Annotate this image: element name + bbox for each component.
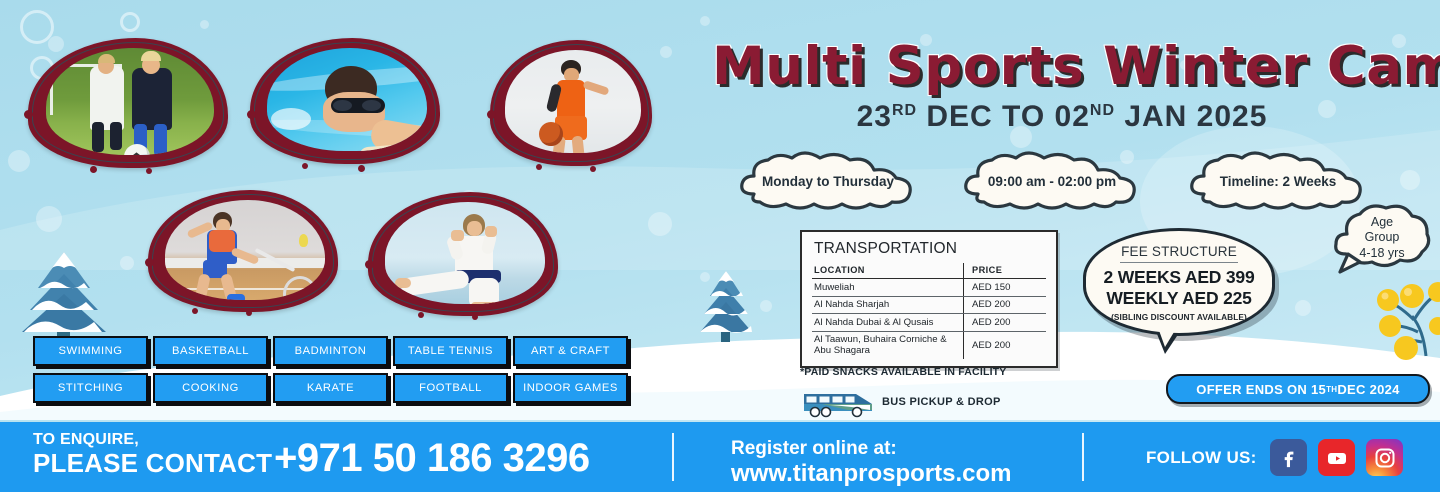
- enquire-line-2: PLEASE CONTACT: [33, 450, 272, 476]
- social-links: [1270, 439, 1403, 476]
- photo-accent-dot: [246, 310, 252, 316]
- photo-accent-dot: [90, 166, 97, 173]
- activity-button-karate[interactable]: KARATE: [273, 373, 388, 403]
- register-block: Register online at: www.titanprosports.c…: [731, 438, 1011, 488]
- activity-button-cooking[interactable]: COOKING: [153, 373, 268, 403]
- activity-button-football[interactable]: FOOTBALL: [393, 373, 508, 403]
- photo-accent-dot: [302, 163, 308, 169]
- cell-location: Muweliah: [812, 279, 964, 297]
- offer-prefix: OFFER ENDS ON 15: [1196, 382, 1326, 397]
- photo-swimming: [250, 38, 440, 164]
- table-row: Al Nahda Dubai & Al Qusais AED 200: [812, 314, 1046, 332]
- date-ordinal-1: RD: [892, 102, 917, 119]
- photo-karate: [368, 192, 558, 316]
- facebook-icon[interactable]: [1270, 439, 1307, 476]
- photo-accent-dot: [365, 260, 374, 269]
- bar-divider-2: [1082, 433, 1084, 481]
- winter-camp-banner: Multi Sports Winter Camp 23RD DEC TO 02N…: [0, 0, 1440, 492]
- activity-button-badminton[interactable]: BADMINTON: [273, 336, 388, 366]
- page-title: Multi Sports Winter Camp: [712, 36, 1412, 97]
- cell-price: AED 150: [964, 279, 1047, 297]
- cell-location: Al Taawun, Buhaira Corniche & Abu Shagar…: [812, 331, 964, 359]
- age-group-text: Age Group 4-18 yrs: [1330, 196, 1434, 280]
- transportation-card: TRANSPORTATION LOCATION PRICE Muweliah A…: [800, 230, 1058, 368]
- cell-price: AED 200: [964, 314, 1047, 332]
- date-middle: DEC TO 02: [917, 100, 1090, 133]
- fee-divider: [1120, 262, 1238, 264]
- age-group-cloud: Age Group 4-18 yrs: [1330, 196, 1434, 280]
- offer-ordinal: TH: [1326, 385, 1337, 394]
- register-label: Register online at:: [731, 438, 1011, 459]
- bus-icon: [800, 388, 878, 418]
- phone-number[interactable]: +971 50 186 3296: [274, 436, 590, 481]
- fee-line-1: 2 WEEKS AED 399: [1104, 267, 1255, 288]
- days-cloud-label: Monday to Thursday: [736, 150, 920, 212]
- berry-branch-icon: [1368, 268, 1440, 360]
- follow-us-label: FOLLOW US:: [1146, 448, 1257, 468]
- enquire-line-1: TO ENQUIRE,: [33, 432, 272, 448]
- age-line-1: Age: [1371, 215, 1393, 230]
- column-price: PRICE: [964, 263, 1047, 279]
- snacks-note: *PAID SNACKS AVAILABLE IN FACILITY: [800, 366, 1007, 378]
- activity-button-swimming[interactable]: SWIMMING: [33, 336, 148, 366]
- offer-suffix: DEC 2024: [1337, 382, 1399, 397]
- fee-heading: FEE STRUCTURE: [1121, 244, 1237, 259]
- activity-button-basketball[interactable]: BASKETBALL: [153, 336, 268, 366]
- transportation-title: TRANSPORTATION: [814, 240, 1046, 258]
- time-cloud-label: 09:00 am - 02:00 pm: [960, 150, 1144, 212]
- photo-accent-dot: [472, 314, 478, 320]
- cell-location: Al Nahda Dubai & Al Qusais: [812, 314, 964, 332]
- camp-dates: 23RD DEC TO 02ND JAN 2025: [712, 100, 1412, 134]
- snow-tree-mid-icon: [696, 268, 756, 344]
- photo-accent-dot: [24, 110, 33, 119]
- fee-line-2: WEEKLY AED 225: [1106, 288, 1251, 309]
- youtube-icon[interactable]: [1318, 439, 1355, 476]
- photo-accent-dot: [418, 312, 424, 318]
- days-cloud: Monday to Thursday: [736, 150, 920, 212]
- photo-accent-dot: [247, 110, 256, 119]
- enquire-block: TO ENQUIRE, PLEASE CONTACT: [33, 432, 272, 476]
- fee-sibling-note: (SIBLING DISCOUNT AVAILABLE): [1111, 312, 1247, 322]
- photo-accent-dot: [358, 165, 365, 172]
- time-cloud: 09:00 am - 02:00 pm: [960, 150, 1144, 212]
- activity-button-table-tennis[interactable]: TABLE TENNIS: [393, 336, 508, 366]
- table-row: Al Nahda Sharjah AED 200: [812, 296, 1046, 314]
- fee-structure-bubble: FEE STRUCTURE 2 WEEKS AED 399 WEEKLY AED…: [1083, 228, 1275, 336]
- activity-button-art-craft[interactable]: ART & CRAFT: [513, 336, 628, 366]
- photo-basketball: [490, 40, 652, 166]
- photo-football: [28, 38, 228, 168]
- photo-accent-dot: [145, 258, 154, 267]
- cell-price: AED 200: [964, 296, 1047, 314]
- transportation-table: LOCATION PRICE Muweliah AED 150 Al Nahda…: [812, 263, 1046, 359]
- table-row: Al Taawun, Buhaira Corniche & Abu Shagar…: [812, 331, 1046, 359]
- website-url[interactable]: www.titanprosports.com: [731, 461, 1011, 488]
- column-location: LOCATION: [812, 263, 964, 279]
- cell-price: AED 200: [964, 331, 1047, 359]
- bar-divider-1: [672, 433, 674, 481]
- photo-badminton: [148, 190, 338, 312]
- activities-grid: SWIMMING BASKETBALL BADMINTON TABLE TENN…: [33, 336, 632, 401]
- photo-accent-dot: [192, 308, 198, 314]
- cell-location: Al Nahda Sharjah: [812, 296, 964, 314]
- photo-accent-dot: [487, 110, 496, 119]
- activity-button-indoor-games[interactable]: INDOOR GAMES: [513, 373, 628, 403]
- offer-badge: OFFER ENDS ON 15TH DEC 2024: [1166, 374, 1430, 404]
- photo-accent-dot: [590, 166, 596, 172]
- age-line-3: 4-18 yrs: [1359, 246, 1404, 261]
- age-line-2: Group: [1365, 230, 1400, 245]
- date-end: JAN 2025: [1115, 100, 1267, 133]
- date-ordinal-2: ND: [1090, 102, 1115, 119]
- instagram-icon[interactable]: [1366, 439, 1403, 476]
- table-row: Muweliah AED 150: [812, 279, 1046, 297]
- snow-tree-left-icon: [14, 248, 114, 344]
- bus-pickup-label: BUS PICKUP & DROP: [882, 396, 1001, 408]
- date-day-1: 23: [857, 100, 892, 133]
- photo-accent-dot: [146, 168, 152, 174]
- contact-bar: TO ENQUIRE, PLEASE CONTACT +971 50 186 3…: [0, 422, 1440, 492]
- photo-accent-dot: [536, 164, 542, 170]
- table-header-row: LOCATION PRICE: [812, 263, 1046, 279]
- activity-button-stitching[interactable]: STITCHING: [33, 373, 148, 403]
